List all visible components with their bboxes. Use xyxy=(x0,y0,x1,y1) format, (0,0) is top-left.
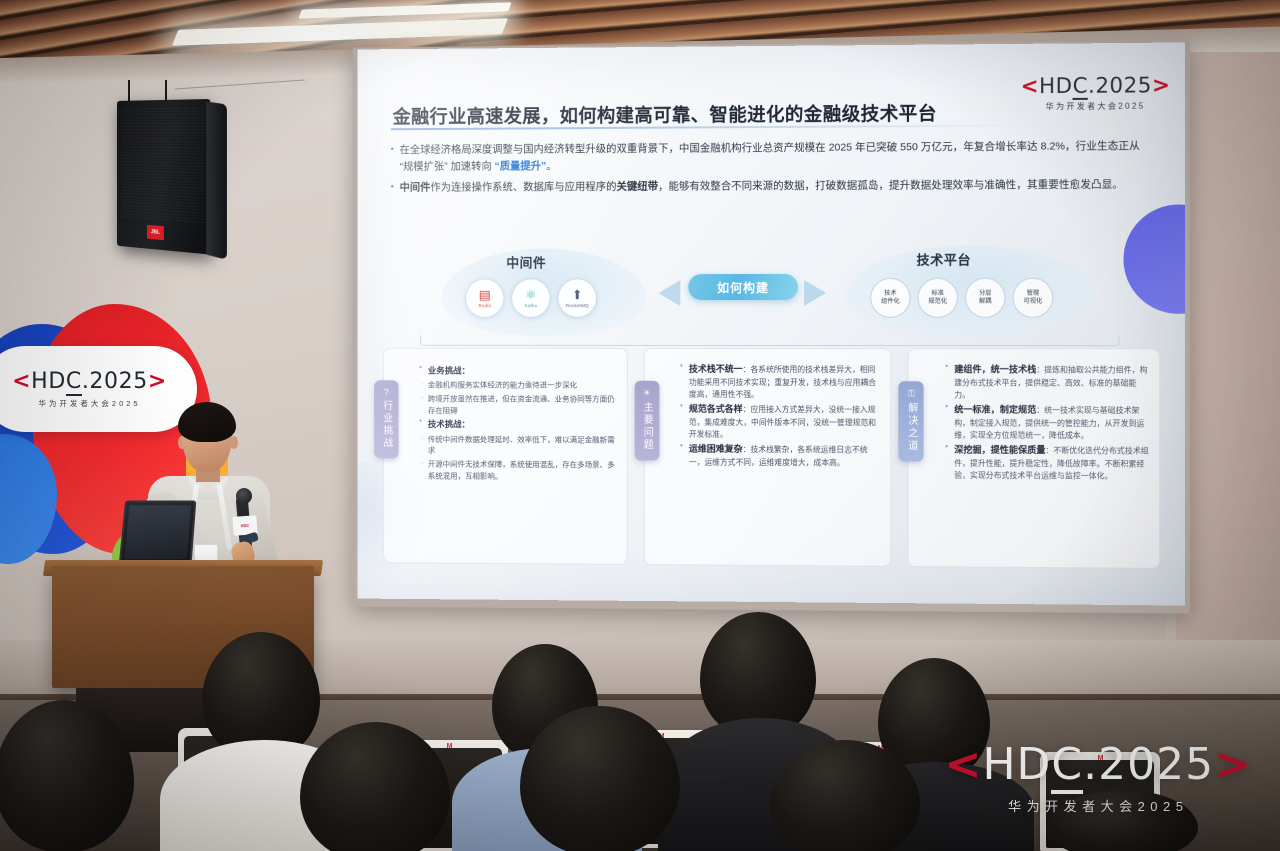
slide-bullet-item: • 中间件作为连接操作系统、数据库与应用程序的关键纽带，能够有效整合不同来源的数… xyxy=(391,176,1152,196)
card-list-item: 传统中间件数据处理延时、效率低下，难以满足金融新需求 xyxy=(419,433,616,457)
bullet-text-run: 关键纽带 xyxy=(616,180,658,192)
bullet-text-run: 。 xyxy=(546,160,556,172)
standee-logo-sub: 华为开发者大会2025 xyxy=(38,398,140,409)
bullet-dot-icon: • xyxy=(391,142,394,176)
logo-underlined: C xyxy=(1073,74,1088,100)
card-list-item: 技术栈不统一：各系统所使用的技术栈差异大，相同功能采用不同技术实现；重复开发，技… xyxy=(680,363,881,401)
platform-pill-line1: 管理 xyxy=(1027,289,1040,297)
card-list-item: 运维困难复杂：技术栈繁杂，各系统运维日志不统一，运维方式不同，运维难度增大，成本… xyxy=(680,442,881,469)
middleware-chip-label: RocketMQ xyxy=(566,303,589,308)
bullet-text-run: 作为连接操作系统、数据库与应用程序的 xyxy=(430,181,616,194)
arrow-right-icon xyxy=(804,280,826,306)
card-item-lead: 技术栈不统一 xyxy=(689,364,743,374)
speaker-grille xyxy=(121,105,204,223)
platform-pill-line2: 可视化 xyxy=(1023,298,1042,306)
logo-post: .2025 xyxy=(1088,73,1152,98)
arrow-left-icon xyxy=(658,280,680,306)
card-list-item: 深挖掘，提性能保质量：不断优化迭代分布式技术组件，提升性能，提升稳定性，降低故障… xyxy=(945,443,1149,482)
card-tab-label: 行业挑战 xyxy=(379,400,394,449)
middleware-chip-label: Redis xyxy=(478,303,491,308)
middleware-chip-group: ▤ Redis ⚛ Kafka ⬆ RocketMQ xyxy=(465,278,597,318)
logo-underlined: C xyxy=(66,369,82,396)
card-tab-label: 解决之道 xyxy=(904,402,919,452)
logo-angle-left-icon: < xyxy=(12,369,31,394)
kafka-icon: ⚛ xyxy=(525,288,536,301)
bullet-text: 中间件作为连接操作系统、数据库与应用程序的关键纽带，能够有效整合不同来源的数据，… xyxy=(400,176,1123,196)
logo-angle-left-icon: < xyxy=(1021,74,1039,98)
platform-pill-line1: 分层 xyxy=(979,289,992,297)
card-list-item: 技术挑战： xyxy=(419,418,616,432)
rocketmq-icon: ⬆ xyxy=(572,288,583,301)
diagram-bracket xyxy=(420,336,1119,346)
platform-label: 技术平台 xyxy=(917,250,972,269)
logo-pre: HD xyxy=(1039,74,1073,98)
logo-post: .2025 xyxy=(1083,739,1214,790)
projection-screen: <HDC.2025> 华为开发者大会2025 金融行业高速发展，如何构建高可靠、… xyxy=(358,42,1185,605)
watermark-logo-sub: 华为开发者大会2025 xyxy=(945,796,1252,815)
platform-pill[interactable]: 分层 解耦 xyxy=(965,278,1005,318)
card-solutions: ⚿ 解决之道 建组件，统一技术栈：提炼和抽取公共能力组件，构建分布式技术平台，提… xyxy=(908,348,1160,569)
card-item-lead: 运维困难复杂 xyxy=(689,443,743,453)
middleware-chip-label: Kafka xyxy=(525,303,538,308)
bullet-text: 在全球经济格局深度调整与国内经济转型升级的双重背景下，中国金融机构行业总资产规模… xyxy=(400,138,1152,176)
logo-angle-right-icon: > xyxy=(1152,73,1171,97)
card-list-item: 建组件，统一技术栈：提炼和抽取公共能力组件，构建分布式技术平台，提供稳定、高效、… xyxy=(945,363,1149,402)
logo-angle-left-icon: < xyxy=(945,739,983,790)
card-main-problems: ☀ 主要问题 技术栈不统一：各系统所使用的技术栈差异大，相同功能采用不同技术实现… xyxy=(643,348,891,567)
slide-diagram-band: 中间件 技术平台 ▤ Redis ⚛ Kafka ⬆ RocketMQ xyxy=(381,243,1162,346)
watermark-logo-text: <HDC.2025> xyxy=(945,739,1252,790)
card-list-item: 规范各式各样：应用接入方式差异大，没统一接入规范，集成难度大，中间件版本不同，没… xyxy=(680,403,881,441)
middleware-chip-rocketmq[interactable]: ⬆ RocketMQ xyxy=(558,278,598,318)
card-list-item: 开源中间件无技术保障，系统使用混乱，存在多场景、多系统混用，互相影响。 xyxy=(419,458,616,482)
logo-pre: HD xyxy=(31,369,66,394)
platform-pill-line2: 规范化 xyxy=(928,298,947,306)
huawei-logo-icon: M xyxy=(447,743,452,750)
card-tab-industry-challenges[interactable]: ? 行业挑战 xyxy=(374,380,398,458)
logo-underlined: C xyxy=(1051,739,1083,794)
card-item-list: 业务挑战：金融机构服务实体经济的能力亟待进一步深化跨境开放虽然在推进，但在资金流… xyxy=(419,365,616,483)
slide-content: <HDC.2025> 华为开发者大会2025 金融行业高速发展，如何构建高可靠、… xyxy=(358,42,1185,605)
platform-pill-line1: 技术 xyxy=(884,290,896,298)
platform-pill[interactable]: 技术 组件化 xyxy=(870,278,910,318)
card-list-item: 跨境开放虽然在推进，但在资金流通、业务协同等方面仍存在阻碍 xyxy=(419,393,616,417)
card-list-item: 统一标准，制定规范：统一技术实现与基础技术架构，制定接入规范，提供统一的管控能力… xyxy=(945,403,1149,442)
platform-pill-line1: 标准 xyxy=(931,289,943,297)
slide-hdc-logo-sub: 华为开发者大会2025 xyxy=(1021,100,1171,112)
card-list-item: 金融机构服务实体经济的能力亟待进一步深化 xyxy=(419,380,616,392)
middleware-chip-redis[interactable]: ▤ Redis xyxy=(465,278,504,318)
screenshot-root: JBL <HDC.2025> 华为开发者大会2025 金融行业高速发展，如何构建… xyxy=(0,0,1280,851)
card-item-lead: 统一标准，制定规范 xyxy=(954,404,1036,414)
bullet-text-run: ，能够有效整合不同来源的数据，打破数据孤岛，提升数据处理效率与准确性，其重要性愈… xyxy=(658,178,1123,192)
presenter-laptop xyxy=(119,501,197,565)
ceiling-speaker: JBL xyxy=(117,99,210,255)
card-tab-main-problems[interactable]: ☀ 主要问题 xyxy=(634,381,659,461)
card-tab-solutions[interactable]: ⚿ 解决之道 xyxy=(899,381,924,461)
slide-hdc-logo: <HDC.2025> 华为开发者大会2025 xyxy=(1021,73,1171,112)
platform-pill[interactable]: 标准 规范化 xyxy=(918,278,958,318)
card-item-list: 技术栈不统一：各系统所使用的技术栈差异大，相同功能采用不同技术实现；重复开发，技… xyxy=(680,363,881,469)
platform-pill-group: 技术 组件化 标准 规范化 分层 解耦 管理 可视化 xyxy=(870,278,1053,318)
card-item-lead: 深挖掘，提性能保质量 xyxy=(954,444,1045,454)
jbl-logo: JBL xyxy=(147,225,164,240)
watermark-hdc-logo: <HDC.2025> 华为开发者大会2025 xyxy=(945,739,1252,815)
card-item-lead: 建组件，统一技术栈 xyxy=(954,364,1036,374)
key-icon: ⚿ xyxy=(908,388,915,399)
microphone-head xyxy=(236,488,252,504)
bullet-dot-icon: • xyxy=(391,180,394,197)
card-item-lead: 规范各式各样 xyxy=(689,404,743,414)
logo-angle-right-icon: > xyxy=(1214,739,1252,790)
speaker-side-panel xyxy=(206,102,227,260)
slide-card-row: ? 行业挑战 业务挑战：金融机构服务实体经济的能力亟待进一步深化跨境开放虽然在推… xyxy=(383,348,1160,569)
platform-pill-line2: 组件化 xyxy=(881,298,900,306)
middleware-chip-kafka[interactable]: ⚛ Kafka xyxy=(511,278,550,318)
logo-post: .2025 xyxy=(82,369,148,394)
redis-icon: ▤ xyxy=(479,288,491,301)
logo-angle-right-icon: > xyxy=(148,369,167,394)
platform-pill[interactable]: 管理 可视化 xyxy=(1013,278,1054,318)
logo-pre: HD xyxy=(982,739,1051,790)
question-circle-icon: ? xyxy=(384,387,389,397)
middleware-label: 中间件 xyxy=(506,252,546,271)
slide-hdc-logo-text: <HDC.2025> xyxy=(1021,73,1171,98)
standee-logo-text: <HDC.2025> xyxy=(12,369,167,394)
how-to-build-pill[interactable]: 如何构建 xyxy=(688,274,798,300)
card-industry-challenges: ? 行业挑战 业务挑战：金融机构服务实体经济的能力亟待进一步深化跨境开放虽然在推… xyxy=(383,348,628,565)
bullet-text-run: 中间件 xyxy=(400,181,431,193)
lightbulb-icon: ☀ xyxy=(643,388,651,399)
slide-bullet-item: • 在全球经济格局深度调整与国内经济转型升级的双重背景下，中国金融机构行业总资产… xyxy=(391,138,1152,176)
card-tab-label: 主要问题 xyxy=(639,402,654,452)
platform-pill-line2: 解耦 xyxy=(979,298,992,306)
bullet-text-run: “质量提升” xyxy=(495,160,547,172)
card-item-list: 建组件，统一技术栈：提炼和抽取公共能力组件，构建分布式技术平台，提供稳定、高效、… xyxy=(945,363,1149,482)
laptop-screen-glow xyxy=(124,505,191,559)
card-list-item: 业务挑战： xyxy=(419,365,616,378)
slide-bullet-list: • 在全球经济格局深度调整与国内经济转型升级的双重背景下，中国金融机构行业总资产… xyxy=(391,138,1152,201)
presenter-hair xyxy=(178,402,236,442)
